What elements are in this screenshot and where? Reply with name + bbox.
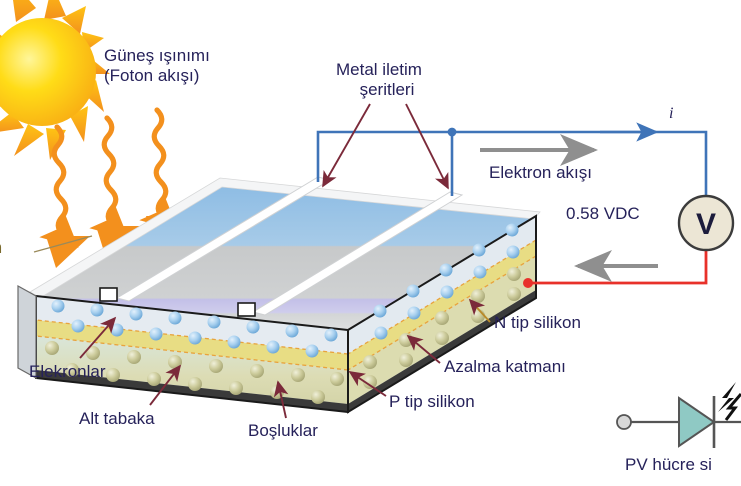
current-symbol-label: i (669, 104, 673, 124)
voltmeter-icon: V (679, 196, 733, 250)
p-type-silicon-label: P tip silikon (389, 392, 475, 412)
electron-flow-label: Elektron akışı (489, 163, 592, 183)
electrons-label: Elekronlar (29, 362, 106, 382)
cut-off-left-label: m (0, 238, 2, 258)
voltage-reading-label: 0.58 VDC (566, 204, 640, 224)
wavy-photon-arrow-icon (54, 110, 166, 234)
circuit-wire-positive (318, 128, 706, 196)
substrate-label: Alt tabaka (79, 409, 155, 429)
circuit-wire-negative (523, 250, 706, 288)
svg-text:V: V (696, 208, 716, 241)
sun-radiation-label: Güneş ışınımı(Foton akışı) (104, 46, 210, 86)
metal-strips-label: Metal iletimşeritleri (336, 60, 422, 100)
depletion-layer-label: Azalma katmanı (444, 357, 566, 377)
n-type-silicon-label: N tip silikon (494, 313, 581, 333)
sun-icon (0, 0, 110, 160)
photodiode-symbol-icon (617, 382, 741, 448)
pv-cell-symbol-caption: PV hücre si (625, 455, 712, 475)
holes-label: Boşluklar (248, 421, 318, 441)
figure-canvas: V (0, 0, 741, 486)
